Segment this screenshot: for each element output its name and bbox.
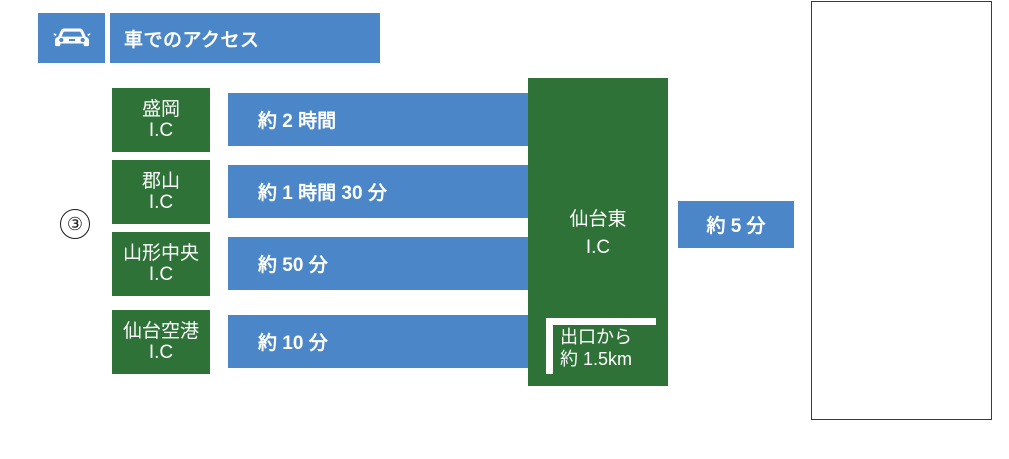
travel-time-label: 約 1 時間 30 分 [228,178,387,205]
car-icon-box [38,13,105,63]
origin-ic-box: 山形中央 I.C [112,232,210,296]
section-title-bar: 車でのアクセス [110,13,380,63]
origin-ic-name: 仙台空港 [123,321,199,342]
origin-ic-box: 盛岡 I.C [112,88,210,152]
origin-ic-suffix: I.C [149,192,173,213]
exit-distance-note: 出口から 約 1.5km [546,318,656,374]
origin-ic-name: 郡山 [142,171,180,192]
final-leg-time-badge: 約 5 分 [678,201,794,248]
access-by-car-diagram: 車でのアクセス ③ 盛岡 I.C 約 2 時間 郡山 I.C 約 1 時間 30… [0,0,1009,459]
origin-ic-name: 山形中央 [123,243,199,264]
destination-ic-label: 仙台東 I.C [528,206,668,261]
exit-distance-line1: 出口から [560,327,632,349]
exit-distance-line2: 約 1.5km [560,349,632,371]
step-number-label: ③ [67,215,83,233]
step-number-badge: ③ [60,209,90,239]
origin-ic-name: 盛岡 [142,99,180,120]
travel-time-label: 約 2 時間 [228,106,336,133]
section-title: 車でのアクセス [110,25,260,52]
car-icon [53,25,91,51]
travel-time-label: 約 50 分 [228,250,328,277]
destination-ic-suffix: I.C [528,234,668,262]
final-leg-time-label: 約 5 分 [706,211,765,238]
origin-ic-suffix: I.C [149,120,173,141]
destination-ic-name: 仙台東 [528,206,668,234]
origin-ic-box: 仙台空港 I.C [112,310,210,374]
origin-ic-suffix: I.C [149,342,173,363]
origin-ic-box: 郡山 I.C [112,160,210,224]
travel-time-label: 約 10 分 [228,328,328,355]
origin-ic-suffix: I.C [149,264,173,285]
destination-ic-block: 仙台東 I.C 出口から 約 1.5km [528,78,668,386]
exit-distance-text: 出口から 約 1.5km [560,327,632,370]
side-panel [811,1,992,420]
